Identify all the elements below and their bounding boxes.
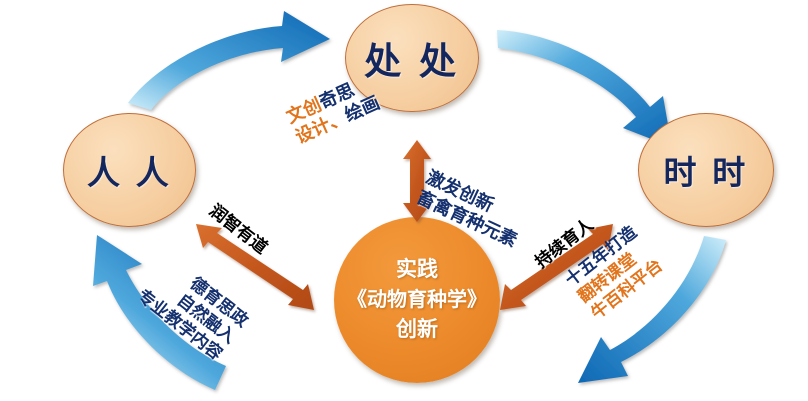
diagram-canvas: 处 处 人 人 时 时 实践 《动物育种学》 创新 [0, 0, 808, 401]
rust-arrow-layer [0, 0, 808, 401]
